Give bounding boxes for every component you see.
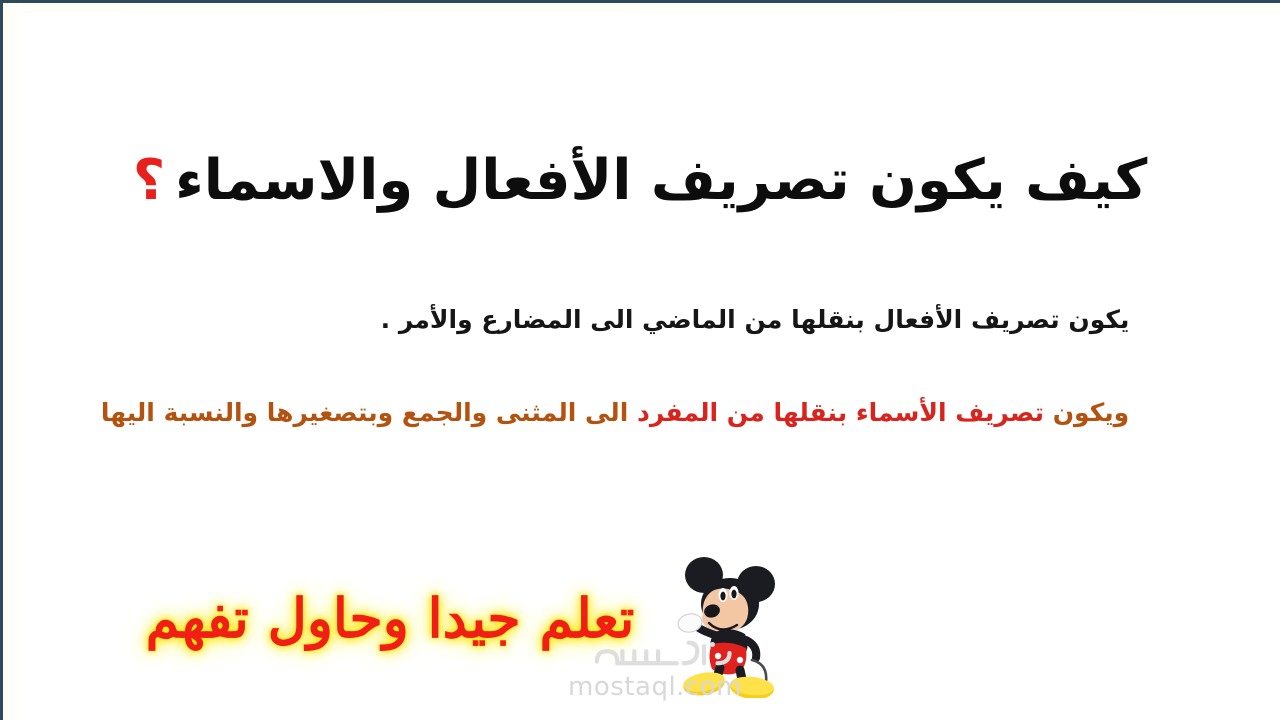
slide-title-question-mark: ؟ [133,148,165,213]
slide-slogan: تعلم جيدا وحاول تفهم [120,586,660,650]
slide-title-text: كيف يكون تصريف الأفعال والاسماء [175,148,1147,213]
body-paragraph-nouns-segment-2: تصريف الأسماء بنقلها من المفرد [628,398,1044,427]
slide-title: كيف يكون تصريف الأفعال والاسماء؟ [0,148,1280,213]
slide-slogan-text: تعلم جيدا وحاول تفهم [146,586,635,650]
body-paragraph-verbs-text: يكون تصريف الأفعال بنقلها من الماضي الى … [381,305,1130,334]
slide-left-inner-glow [3,3,21,720]
body-paragraph-verbs: يكون تصريف الأفعال بنقلها من الماضي الى … [0,305,1280,334]
slide-canvas: كيف يكون تصريف الأفعال والاسماء؟ يكون تص… [0,0,1280,720]
body-paragraph-nouns-segment-3: الى المثنى والجمع وبتصغيرها والنسبة اليه… [101,398,628,427]
body-paragraph-nouns: ويكون تصريف الأسماء بنقلها من المفرد الى… [0,398,1280,427]
mickey-mouse-icon [660,548,800,698]
slide-top-inner-glow [3,3,1280,17]
body-paragraph-nouns-segment-1: ويكون [1044,398,1129,427]
